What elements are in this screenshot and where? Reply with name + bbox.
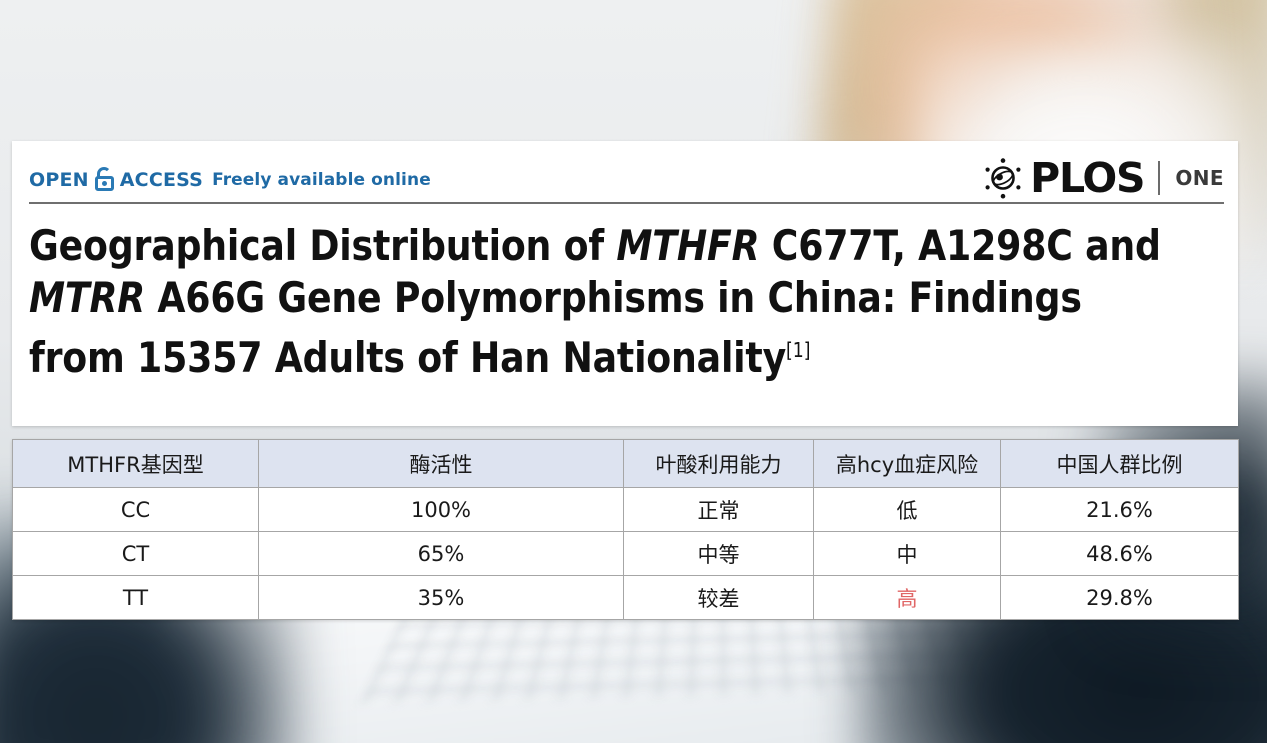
table-row: CT 65% 中等 中 48.6%: [13, 532, 1239, 576]
cell-enzyme-activity: 100%: [259, 488, 624, 532]
cell-genotype: CC: [13, 488, 259, 532]
header-genotype: MTHFR基因型: [13, 440, 259, 488]
open-access-open-label: OPEN: [29, 169, 89, 191]
plos-orbital-icon: [982, 157, 1024, 199]
title-gene-mtrr: MTRR: [29, 273, 145, 322]
header-population-share: 中国人群比例: [1001, 440, 1239, 488]
page-title: Geographical Distribution of MTHFR C677T…: [29, 220, 1176, 384]
title-reference-marker: [1]: [786, 338, 810, 362]
cell-population-share: 29.8%: [1001, 576, 1239, 620]
genotype-table-container: MTHFR基因型 酶活性 叶酸利用能力 高hcy血症风险 中国人群比例 CC 1…: [12, 439, 1238, 620]
title-line3: from 15357 Adults of Han Nationality: [29, 333, 786, 382]
cell-hcy-risk: 中: [814, 532, 1001, 576]
header-enzyme-activity: 酶活性: [259, 440, 624, 488]
open-lock-icon: [94, 167, 116, 192]
title-line1-part1: Geographical Distribution of: [29, 221, 616, 270]
cell-folate-utilization: 中等: [624, 532, 814, 576]
plos-one-logo: PLOS ONE: [982, 157, 1224, 199]
header-hcy-risk: 高hcy血症风险: [814, 440, 1001, 488]
cell-genotype: TT: [13, 576, 259, 620]
cell-hcy-risk: 低: [814, 488, 1001, 532]
title-gene-mthfr: MTHFR: [616, 221, 759, 270]
table-row: CC 100% 正常 低 21.6%: [13, 488, 1239, 532]
plos-wordmark: PLOS: [1030, 158, 1144, 199]
header-folate-utilization: 叶酸利用能力: [624, 440, 814, 488]
paper-header-card: OPEN ACCESS Freely available online PLOS: [12, 141, 1238, 426]
cell-population-share: 48.6%: [1001, 532, 1239, 576]
logo-divider: [1158, 161, 1160, 195]
header-divider-rule: [29, 202, 1224, 204]
genotype-table: MTHFR基因型 酶活性 叶酸利用能力 高hcy血症风险 中国人群比例 CC 1…: [12, 439, 1239, 620]
journal-name: ONE: [1175, 166, 1224, 190]
open-access-access-label: ACCESS: [120, 169, 203, 191]
cell-hcy-risk: 高: [814, 576, 1001, 620]
table-row: TT 35% 较差 高 29.8%: [13, 576, 1239, 620]
cell-enzyme-activity: 35%: [259, 576, 624, 620]
cell-enzyme-activity: 65%: [259, 532, 624, 576]
title-line2-part2: A66G Gene Polymorphisms in China: Findin…: [145, 273, 1082, 322]
cell-folate-utilization: 较差: [624, 576, 814, 620]
open-access-tagline: Freely available online: [212, 170, 431, 190]
table-header-row: MTHFR基因型 酶活性 叶酸利用能力 高hcy血症风险 中国人群比例: [13, 440, 1239, 488]
open-access-banner: OPEN ACCESS Freely available online: [29, 167, 431, 192]
cell-genotype: CT: [13, 532, 259, 576]
title-line1-part2: C677T, A1298C and: [759, 221, 1160, 270]
cell-folate-utilization: 正常: [624, 488, 814, 532]
cell-population-share: 21.6%: [1001, 488, 1239, 532]
